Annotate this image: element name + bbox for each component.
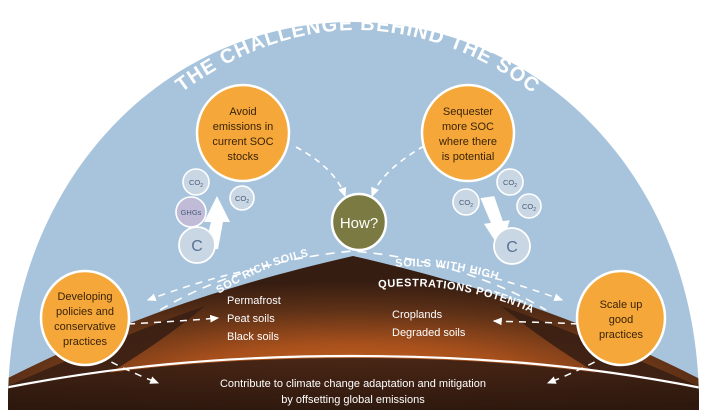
bubble-developing-policies-line-4: practices bbox=[63, 336, 108, 348]
bubble-developing-policies-line-1: Developing bbox=[57, 291, 112, 303]
co2-bubble-label: CO bbox=[503, 178, 514, 187]
infographic-canvas: THE CHALLENGE BEHIND THE SOC CO2 GHGs CO… bbox=[0, 0, 707, 417]
co2-bubble: CO2 bbox=[497, 169, 523, 195]
list-item: Croplands bbox=[392, 309, 443, 321]
bubble-developing-policies-line-3: conservative bbox=[54, 321, 116, 333]
carbon-bubble-right: C bbox=[494, 228, 530, 264]
bubble-avoid-emissions-line-2: emissions in bbox=[213, 121, 274, 133]
co2-bubble: CO2 bbox=[453, 189, 479, 215]
bubble-scale-up-line-2: good bbox=[609, 314, 633, 326]
bubble-avoid-emissions-shape[interactable] bbox=[197, 85, 289, 181]
bubble-scale-up-line-3: practices bbox=[599, 329, 644, 341]
co2-bubble: CO2 bbox=[517, 194, 541, 218]
bubble-avoid-emissions-line-4: stocks bbox=[227, 151, 259, 163]
bubble-avoid-emissions-line-1: Avoid bbox=[229, 106, 256, 118]
co2-bubble-sub: 2 bbox=[470, 203, 473, 209]
bubble-avoid-emissions-line-3: current SOC bbox=[212, 136, 273, 148]
co2-bubble-label: CO bbox=[235, 194, 246, 203]
bottom-caption-line-1: Contribute to climate change adaptation … bbox=[220, 378, 486, 390]
bottom-caption-line-2: by offsetting global emissions bbox=[281, 394, 425, 406]
bubble-avoid-emissions[interactable]: Avoid emissions in current SOC stocks bbox=[197, 85, 289, 181]
how-node-label: How? bbox=[340, 215, 378, 232]
bubble-sequester-soc[interactable]: Sequester more SOC where there is potent… bbox=[422, 85, 514, 181]
list-item: Degraded soils bbox=[392, 327, 466, 339]
how-node[interactable]: How? bbox=[332, 194, 386, 250]
carbon-bubble-left-label: C bbox=[191, 238, 203, 255]
bubble-developing-policies-line-2: policies and bbox=[56, 306, 114, 318]
bubble-sequester-soc-line-1: Sequester bbox=[443, 106, 493, 118]
bubble-sequester-soc-line-4: is potential bbox=[442, 151, 495, 163]
bubble-sequester-soc-line-2: more SOC bbox=[442, 121, 494, 133]
bubble-scale-up-line-1: Scale up bbox=[600, 299, 643, 311]
co2-bubble-sub: 2 bbox=[200, 183, 203, 189]
carbon-bubble-left: C bbox=[179, 227, 215, 263]
bubble-scale-up[interactable]: Scale up good practices bbox=[577, 271, 665, 365]
list-item: Peat soils bbox=[227, 313, 275, 325]
list-item: Permafrost bbox=[227, 295, 281, 307]
soc-challenge-infographic: THE CHALLENGE BEHIND THE SOC CO2 GHGs CO… bbox=[0, 0, 707, 417]
co2-bubble-label: CO bbox=[189, 178, 200, 187]
co2-bubble-label: CO bbox=[522, 202, 533, 211]
ghgs-bubble: GHGs bbox=[176, 197, 206, 227]
carbon-bubble-right-label: C bbox=[506, 239, 518, 256]
co2-bubble: CO2 bbox=[183, 169, 209, 195]
co2-bubble-label: CO bbox=[459, 198, 470, 207]
bubble-developing-policies[interactable]: Developing policies and conservative pra… bbox=[41, 271, 129, 365]
bubble-sequester-soc-line-3: where there bbox=[438, 136, 497, 148]
co2-bubble: CO2 bbox=[230, 186, 254, 210]
co2-bubble-sub: 2 bbox=[533, 207, 536, 213]
co2-bubble-sub: 2 bbox=[514, 183, 517, 189]
co2-bubble-sub: 2 bbox=[246, 199, 249, 205]
list-item: Black soils bbox=[227, 331, 279, 343]
bubble-sequester-soc-shape[interactable] bbox=[422, 85, 514, 181]
ghgs-bubble-label: GHGs bbox=[181, 208, 202, 217]
bubble-developing-policies-shape[interactable] bbox=[41, 271, 129, 365]
soil-list-soc-rich: Permafrost Peat soils Black soils bbox=[227, 295, 281, 343]
